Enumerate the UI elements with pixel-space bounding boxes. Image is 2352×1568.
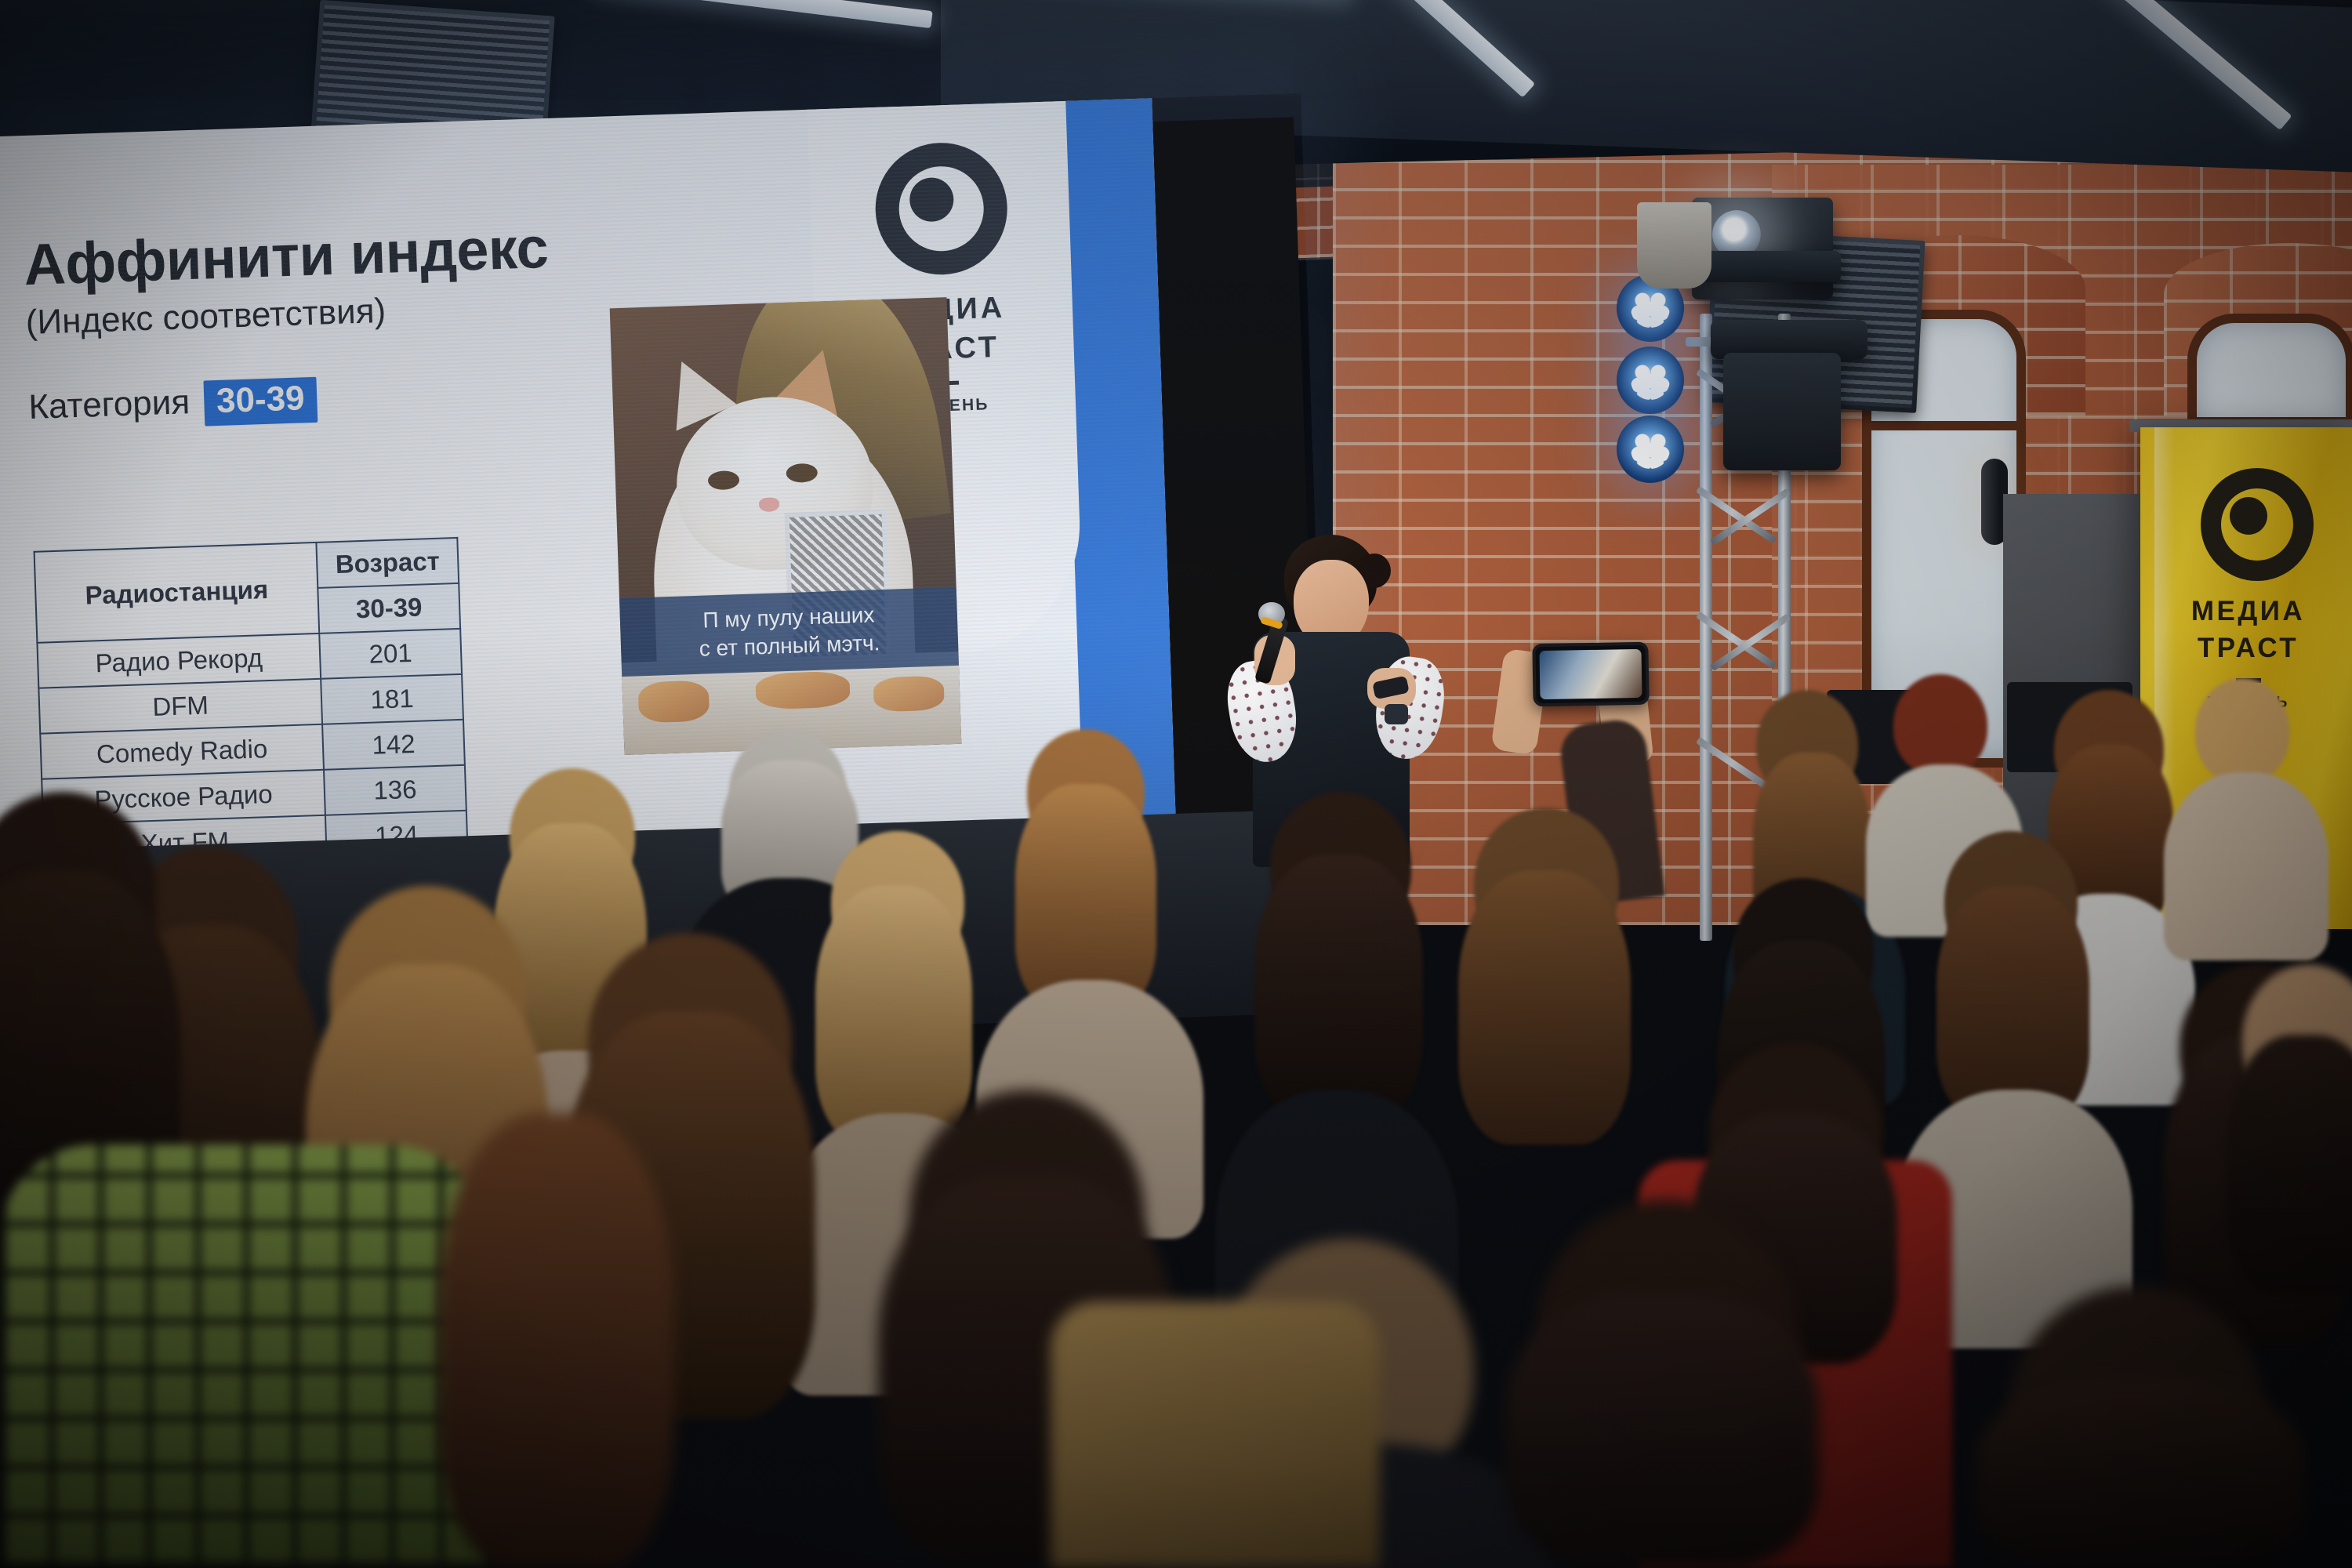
cell-value: 136 [324,765,466,815]
presenter-wristwatch [1385,704,1408,724]
slide-subtitle: (Индекс соответствия) [25,292,387,343]
led-par-light-bottom [1617,416,1684,483]
cell-value: 181 [321,674,463,724]
audience-hair [1015,784,1156,1011]
table-header-group: Возраст [316,538,459,588]
audience-hair-front [439,1113,674,1568]
audience-hair [1936,886,2089,1121]
food-blob [873,675,944,712]
category-badge: 30-39 [203,377,318,426]
phone-screen [1539,649,1642,699]
slide-title: Аффинити индекс [23,214,549,298]
audience-hair-front [1976,1380,2305,1568]
bullseye-center-dot [2230,497,2267,535]
cell-value: 201 [319,629,462,679]
audience-hair [2227,1035,2352,1294]
par-led-cluster [1631,289,1670,328]
table-header-agerange: 30-39 [318,583,460,633]
cell-value: 142 [322,720,465,770]
table-header-station: Радиостанция [34,543,320,643]
audience-hair [815,886,972,1145]
slide-category-row: Категория30-39 [28,377,318,432]
window-mullion [1862,421,2026,430]
audience-hair [1458,870,1631,1145]
moving-head-light-top [1692,198,1833,299]
audience-head [1893,674,1987,776]
food-blob [755,670,850,710]
food-blob [638,680,710,723]
audience-green-plaid-jacket [0,1145,486,1568]
wall-speaker [1637,202,1711,289]
banner-logo-line1: МЕДИА [2140,596,2352,627]
slide: МЕДИА ТРАСТ ТЮМЕНЬ Аффинити индекс (Инде… [0,98,1176,866]
led-par-light-middle [1617,347,1684,414]
banner-logo-line2: ТРАСТ [2140,633,2352,664]
par-led-cluster [1631,430,1670,469]
category-label: Категория [28,383,191,426]
audience-head [2195,678,2289,784]
par-led-cluster [1631,361,1670,400]
moving-head-light-lower [1723,353,1841,470]
conference-photo-scene: МЕДИА ТРАСТ ТЮМЕНЬ Аффинити индекс (Инде… [0,0,2352,1568]
audience-hair-front [1505,1294,1819,1568]
audience-body-front [1051,1301,1380,1568]
audience-body [2164,772,2328,960]
smartphone-recording[interactable] [1532,642,1649,707]
cat-image-caption: П му пулу наших с ет полный мэтч. [619,587,959,677]
audience-hair [1254,855,1423,1121]
slide-cat-image: П му пулу наших с ет полный мэтч. [610,297,962,755]
